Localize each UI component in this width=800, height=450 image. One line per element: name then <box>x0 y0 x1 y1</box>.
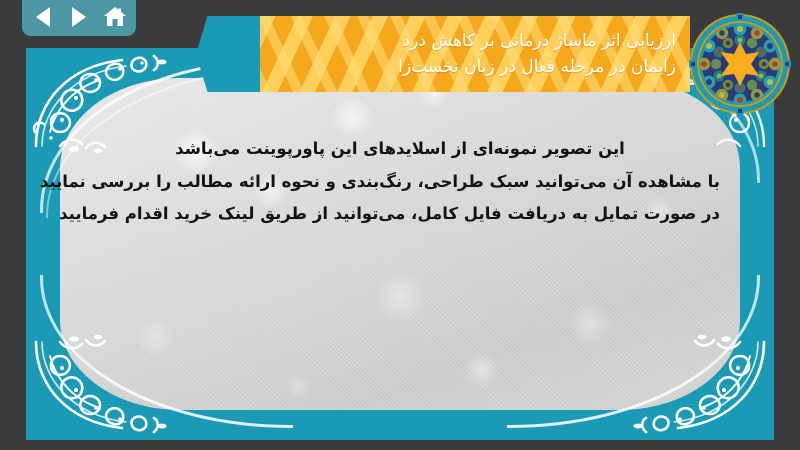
slide-navigation-toolbar <box>22 0 136 36</box>
banner-text-panel: ارزیابی اثر ماساژ درمانی بر کاهش درد زای… <box>260 16 690 92</box>
title-line-2: زایمان در مرحله فعال در زنان نخست‌زا <box>270 54 676 80</box>
body-line-2: با مشاهده آن می‌توانید سبک طراحی، رنگ‌بن… <box>80 169 720 196</box>
presentation-slide: این تصویر نمونه‌ای از اسلایدهای این پاور… <box>26 48 774 440</box>
triangle-right-icon <box>72 7 86 27</box>
circular-mandala-ornament <box>688 12 792 116</box>
banner-arrow-shape <box>196 16 260 92</box>
slide-body-text: این تصویر نمونه‌ای از اسلایدهای این پاور… <box>80 136 720 234</box>
previous-slide-button[interactable] <box>30 4 56 30</box>
home-icon <box>103 6 127 28</box>
slide-title-banner: ارزیابی اثر ماساژ درمانی بر کاهش درد زای… <box>196 16 690 92</box>
triangle-left-icon <box>36 7 50 27</box>
slide-content-panel <box>60 78 740 410</box>
title-line-1: ارزیابی اثر ماساژ درمانی بر کاهش درد <box>270 28 676 54</box>
body-line-3: در صورت تمایل به دریافت فایل کامل، می‌تو… <box>80 201 720 228</box>
next-slide-button[interactable] <box>66 4 92 30</box>
body-line-1: این تصویر نمونه‌ای از اسلایدهای این پاور… <box>80 136 720 163</box>
home-button[interactable] <box>102 4 128 30</box>
